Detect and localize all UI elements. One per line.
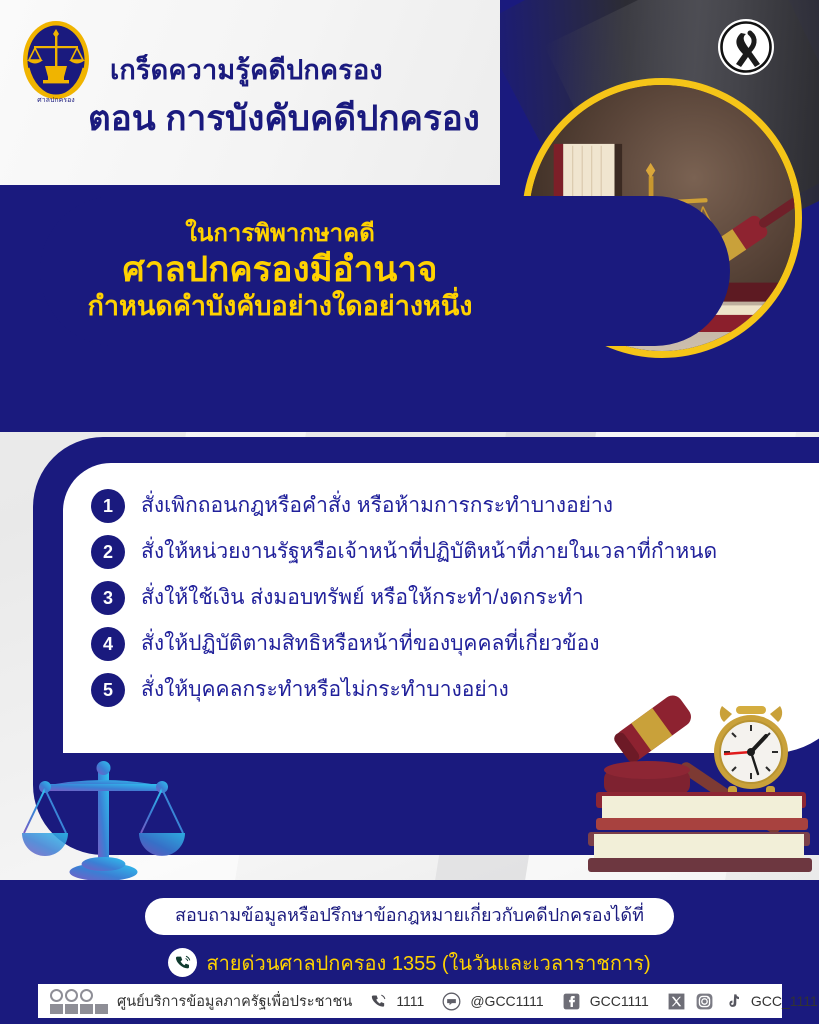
line-icon[interactable]	[442, 992, 461, 1011]
hotline-text: สายด่วนศาลปกครอง 1355 (ในวันและเวลาราชกา…	[206, 947, 650, 979]
gcc-logo-icon	[50, 989, 108, 1014]
list-item-text: สั่งให้ปฏิบัติตามสิทธิหรือหน้าที่ของบุคค…	[141, 631, 599, 657]
headline-line-2: ศาลปกครองมีอำนาจ	[123, 250, 438, 289]
facebook-handle: GCC1111	[590, 993, 649, 1009]
list-item-number: 4	[91, 627, 125, 661]
hotline-row: สายด่วนศาลปกครอง 1355 (ในวันและเวลาราชกา…	[168, 947, 650, 979]
headline-banner: ในการพิพากษาคดี ศาลปกครองมีอำนาจ กำหนดคำ…	[40, 196, 730, 346]
gavel-clock-books-icon	[580, 684, 819, 880]
headline-line-1: ในการพิพากษาคดี	[185, 220, 375, 248]
list-item-text: สั่งเพิกถอนกฎหรือคำสั่ง หรือห้ามการกระทำ…	[141, 493, 613, 519]
gcc-phone-icon	[370, 993, 387, 1010]
court-seal-icon: ศาลปกครอง	[12, 16, 100, 112]
poster-root: เกร็ดความรู้คดีปกครอง ตอน การบังคับคดีปก…	[0, 0, 819, 1024]
list-item-text: สั่งให้ใช้เงิน ส่งมอบทรัพย์ หรือให้กระทำ…	[141, 585, 584, 611]
x-twitter-icon[interactable]	[667, 992, 686, 1011]
gcc-label: ศูนย์บริการข้อมูลภาครัฐเพื่อประชาชน	[117, 990, 352, 1013]
list-item: 3 สั่งให้ใช้เงิน ส่งมอบทรัพย์ หรือให้กระ…	[91, 581, 819, 615]
contact-pill[interactable]: สอบถามข้อมูลหรือปรึกษาข้อกฎหมายเกี่ยวกับ…	[145, 898, 674, 935]
list-item-text: สั่งให้หน่วยงานรัฐหรือเจ้าหน้าที่ปฏิบัติ…	[141, 539, 717, 565]
black-mourning-ribbon-icon	[717, 18, 775, 76]
header-episode-title: ตอน การบังคับคดีปกครอง	[88, 100, 484, 139]
headline-line-3: กำหนดคำบังคับอย่างใดอย่างหนึ่ง	[88, 291, 473, 322]
list-item-number: 3	[91, 581, 125, 615]
list-item-number: 1	[91, 489, 125, 523]
list-item: 1 สั่งเพิกถอนกฎหรือคำสั่ง หรือห้ามการกระ…	[91, 489, 819, 523]
list-item-text: สั่งให้บุคคลกระทำหรือไม่กระทำบางอย่าง	[141, 677, 509, 703]
header-kicker: เกร็ดความรู้คดีปกครอง	[110, 56, 484, 86]
list-item-number: 2	[91, 535, 125, 569]
gcc-phone-number: 1111	[396, 993, 424, 1009]
gcc-contact-bar: ศูนย์บริการข้อมูลภาครัฐเพื่อประชาชน 1111…	[38, 984, 782, 1018]
list-item-number: 5	[91, 673, 125, 707]
svg-text:ศาลปกครอง: ศาลปกครอง	[37, 96, 74, 104]
facebook-icon[interactable]	[562, 992, 581, 1011]
list-item: 2 สั่งให้หน่วยงานรัฐหรือเจ้าหน้าที่ปฏิบั…	[91, 535, 819, 569]
list-item: 4 สั่งให้ปฏิบัติตามสิทธิหรือหน้าที่ของบุ…	[91, 627, 819, 661]
social-handle: GCC_1111	[751, 993, 818, 1009]
phone-ringing-icon	[168, 948, 197, 977]
instagram-icon[interactable]	[695, 992, 714, 1011]
tiktok-icon[interactable]	[723, 992, 742, 1011]
line-handle: @GCC1111	[470, 993, 543, 1009]
balance-scales-icon	[14, 756, 194, 888]
